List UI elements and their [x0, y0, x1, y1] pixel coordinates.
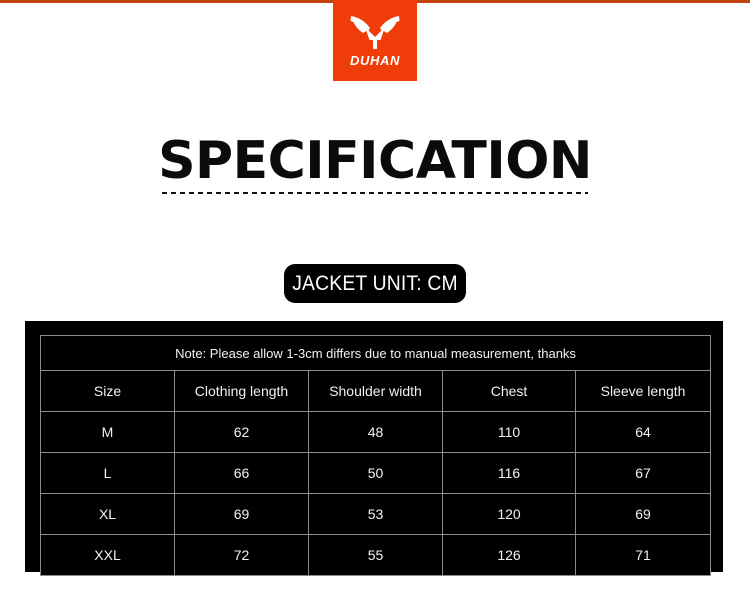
- cell-clothing-length: 72: [175, 535, 309, 576]
- column-header-clothing-length: Clothing length: [175, 371, 309, 412]
- cell-sleeve-length: 67: [576, 453, 711, 494]
- table-header-row: Size Clothing length Shoulder width Ches…: [41, 371, 711, 412]
- column-header-shoulder-width: Shoulder width: [309, 371, 443, 412]
- cell-chest: 110: [443, 412, 576, 453]
- specification-table: Note: Please allow 1-3cm differs due to …: [40, 335, 711, 576]
- cell-clothing-length: 69: [175, 494, 309, 535]
- table-row: XL 69 53 120 69: [41, 494, 711, 535]
- cell-shoulder-width: 53: [309, 494, 443, 535]
- cell-chest: 126: [443, 535, 576, 576]
- table-row: L 66 50 116 67: [41, 453, 711, 494]
- brand-logo: DUHAN: [333, 0, 417, 81]
- cell-sleeve-length: 64: [576, 412, 711, 453]
- cell-size: M: [41, 412, 175, 453]
- table-row: M 62 48 110 64: [41, 412, 711, 453]
- cell-chest: 120: [443, 494, 576, 535]
- cell-size: XXL: [41, 535, 175, 576]
- table-row: XXL 72 55 126 71: [41, 535, 711, 576]
- table-note-row: Note: Please allow 1-3cm differs due to …: [41, 336, 711, 371]
- title-divider: [162, 192, 588, 194]
- column-header-chest: Chest: [443, 371, 576, 412]
- cell-sleeve-length: 69: [576, 494, 711, 535]
- cell-size: L: [41, 453, 175, 494]
- column-header-sleeve-length: Sleeve length: [576, 371, 711, 412]
- spec-table-panel: Note: Please allow 1-3cm differs due to …: [25, 321, 723, 572]
- cell-chest: 116: [443, 453, 576, 494]
- cell-sleeve-length: 71: [576, 535, 711, 576]
- brand-wordmark: DUHAN: [350, 53, 400, 68]
- table-note: Note: Please allow 1-3cm differs due to …: [41, 336, 711, 371]
- cell-clothing-length: 62: [175, 412, 309, 453]
- unit-badge: JACKET UNIT: CM: [284, 264, 466, 303]
- unit-badge-label: JACKET UNIT: CM: [292, 273, 458, 294]
- cell-clothing-length: 66: [175, 453, 309, 494]
- cell-shoulder-width: 50: [309, 453, 443, 494]
- column-header-size: Size: [41, 371, 175, 412]
- cell-shoulder-width: 55: [309, 535, 443, 576]
- page-title: SPECIFICATION: [0, 132, 750, 190]
- cell-size: XL: [41, 494, 175, 535]
- cell-shoulder-width: 48: [309, 412, 443, 453]
- fox-head-icon: [347, 13, 403, 51]
